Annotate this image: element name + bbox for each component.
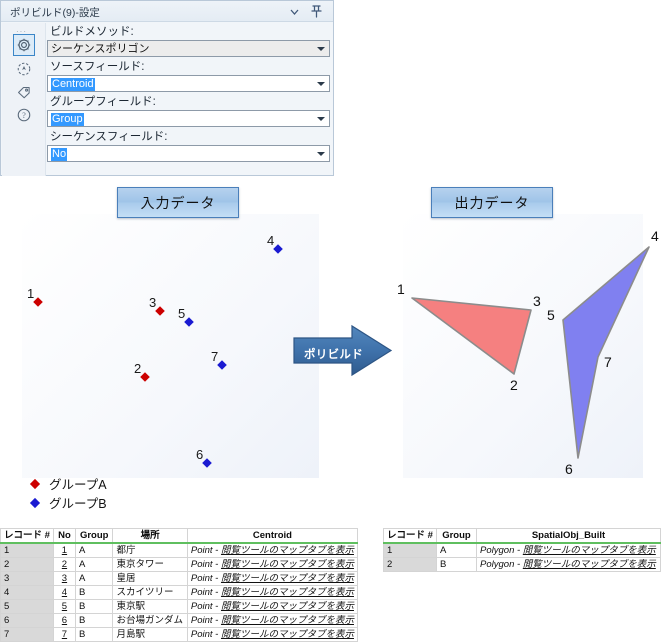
th-centroid: Centroid bbox=[187, 529, 357, 544]
data-point-4 bbox=[273, 244, 283, 254]
field-source-field: ソースフィールド: Centroid bbox=[47, 60, 330, 92]
source-field-value: Centroid bbox=[51, 78, 95, 91]
chart-legend: グループA グループB bbox=[30, 474, 107, 512]
cell-no: 4 bbox=[53, 586, 75, 600]
polygon-vertex-label-7: 7 bbox=[604, 354, 612, 370]
legend-marker-red bbox=[30, 478, 40, 488]
th-record: レコード # bbox=[384, 529, 437, 544]
cell-record: 4 bbox=[1, 586, 54, 600]
chevron-down-icon[interactable] bbox=[287, 4, 302, 19]
polybuild-arrow-label: ポリビルド bbox=[304, 346, 363, 362]
legend-label-group-a: グループA bbox=[49, 474, 107, 493]
data-point-2 bbox=[140, 372, 150, 382]
field-build-method: ビルドメソッド: シーケンスポリゴン bbox=[47, 25, 330, 57]
table-row[interactable]: 2BPolygon - 閲覧ツールのマップタブを表示 bbox=[384, 558, 661, 572]
data-point-1 bbox=[33, 297, 43, 307]
data-point-label-2: 2 bbox=[134, 361, 141, 376]
field-label-source-field: ソースフィールド: bbox=[50, 60, 330, 74]
cell-centroid[interactable]: Point - 閲覧ツールのマップタブを表示 bbox=[187, 628, 357, 642]
cell-place: スカイツリー bbox=[113, 586, 187, 600]
table-row[interactable]: 55B東京駅Point - 閲覧ツールのマップタブを表示 bbox=[1, 600, 358, 614]
cell-record: 2 bbox=[384, 558, 437, 572]
cell-centroid[interactable]: Point - 閲覧ツールのマップタブを表示 bbox=[187, 558, 357, 572]
cell-centroid[interactable]: Point - 閲覧ツールのマップタブを表示 bbox=[187, 614, 357, 628]
legend-item-group-a: グループA bbox=[30, 474, 107, 493]
polygon-vertex-label-2: 2 bbox=[510, 377, 518, 393]
cell-group: B bbox=[75, 586, 113, 600]
cell-place: お台場ガンダム bbox=[113, 614, 187, 628]
cell-group: A bbox=[75, 572, 113, 586]
cell-group: B bbox=[75, 600, 113, 614]
output-polygon-group-A bbox=[412, 298, 531, 374]
chevron-down-icon bbox=[317, 117, 325, 121]
build-method-value: シーケンスポリゴン bbox=[51, 43, 149, 56]
table-body: 1APolygon - 閲覧ツールのマップタブを表示2BPolygon - 閲覧… bbox=[384, 543, 661, 572]
cell-no: 3 bbox=[53, 572, 75, 586]
polygon-vertex-label-3: 3 bbox=[533, 293, 541, 309]
cell-spatialobj[interactable]: Polygon - 閲覧ツールのマップタブを表示 bbox=[477, 558, 661, 572]
panel-icon-rail: ··· bbox=[2, 23, 46, 176]
chevron-down-icon bbox=[317, 82, 325, 86]
data-point-label-1: 1 bbox=[27, 286, 34, 301]
data-point-3 bbox=[155, 306, 165, 316]
cell-record: 1 bbox=[1, 543, 54, 558]
data-point-label-5: 5 bbox=[178, 306, 185, 321]
field-label-sequence-field: シーケンスフィールド: bbox=[50, 130, 330, 144]
table-head: レコード # No Group 場所 Centroid bbox=[1, 529, 358, 544]
polygon-vertex-label-1: 1 bbox=[397, 281, 405, 297]
field-label-build-method: ビルドメソッド: bbox=[50, 25, 330, 39]
polygon-vertex-label-4: 4 bbox=[651, 228, 659, 244]
legend-label-group-b: グループB bbox=[49, 493, 107, 512]
th-spatial: SpatialObj_Built bbox=[477, 529, 661, 544]
output-polygon-group-B bbox=[563, 247, 649, 458]
field-group-field: グループフィールド: Group bbox=[47, 95, 330, 127]
output-records-table: レコード # Group SpatialObj_Built 1APolygon … bbox=[383, 528, 661, 572]
legend-marker-blue bbox=[30, 497, 40, 507]
panel-titlebar: ポリビルド(9)-設定 bbox=[1, 1, 333, 22]
cell-record: 1 bbox=[384, 543, 437, 558]
cell-record: 3 bbox=[1, 572, 54, 586]
cell-centroid[interactable]: Point - 閲覧ツールのマップタブを表示 bbox=[187, 586, 357, 600]
cell-place: 皇居 bbox=[113, 572, 187, 586]
table-row[interactable]: 33A皇居Point - 閲覧ツールのマップタブを表示 bbox=[1, 572, 358, 586]
cell-group: B bbox=[75, 628, 113, 642]
cell-group: B bbox=[75, 614, 113, 628]
polygon-vertex-label-6: 6 bbox=[565, 461, 573, 477]
cell-place: 月島駅 bbox=[113, 628, 187, 642]
table-header-row: レコード # No Group 場所 Centroid bbox=[1, 529, 358, 544]
group-field-value: Group bbox=[51, 113, 84, 126]
table-row[interactable]: 77B月島駅Point - 閲覧ツールのマップタブを表示 bbox=[1, 628, 358, 642]
cell-group: A bbox=[436, 543, 476, 558]
gear-icon[interactable] bbox=[13, 34, 35, 56]
cell-spatialobj[interactable]: Polygon - 閲覧ツールのマップタブを表示 bbox=[477, 543, 661, 558]
tag-icon[interactable] bbox=[13, 81, 35, 103]
cell-group: A bbox=[75, 558, 113, 572]
chevron-down-icon bbox=[317, 47, 325, 51]
group-field-select[interactable]: Group bbox=[47, 110, 330, 127]
th-no: No bbox=[53, 529, 75, 544]
cell-record: 2 bbox=[1, 558, 54, 572]
data-point-7 bbox=[217, 360, 227, 370]
cell-centroid[interactable]: Point - 閲覧ツールのマップタブを表示 bbox=[187, 543, 357, 558]
cell-place: 東京タワー bbox=[113, 558, 187, 572]
table-row[interactable]: 44BスカイツリーPoint - 閲覧ツールのマップタブを表示 bbox=[1, 586, 358, 600]
table-body: 11A都庁Point - 閲覧ツールのマップタブを表示22A東京タワーPoint… bbox=[1, 543, 358, 642]
sequence-field-value: No bbox=[51, 148, 67, 161]
input-records-table: レコード # No Group 場所 Centroid 11A都庁Point -… bbox=[0, 528, 358, 642]
cell-group: A bbox=[75, 543, 113, 558]
data-point-label-3: 3 bbox=[149, 295, 156, 310]
table-row[interactable]: 1APolygon - 閲覧ツールのマップタブを表示 bbox=[384, 543, 661, 558]
panel-title: ポリビルド(9)-設定 bbox=[10, 5, 100, 20]
cell-group: B bbox=[436, 558, 476, 572]
cell-no: 2 bbox=[53, 558, 75, 572]
legend-item-group-b: グループB bbox=[30, 493, 107, 512]
data-point-6 bbox=[202, 458, 212, 468]
data-point-label-7: 7 bbox=[211, 349, 218, 364]
cell-no: 6 bbox=[53, 614, 75, 628]
polybuild-arrow: ポリビルド bbox=[292, 324, 394, 386]
source-field-select[interactable]: Centroid bbox=[47, 75, 330, 92]
polybuild-settings-panel: ポリビルド(9)-設定 ··· bbox=[0, 0, 334, 176]
build-method-select[interactable]: シーケンスポリゴン bbox=[47, 40, 330, 57]
diagram-area: 入力データ 出力データ 1325476 1234567 ポリビルド グループA bbox=[0, 176, 661, 524]
cell-no: 7 bbox=[53, 628, 75, 642]
input-points: 1234567 bbox=[27, 233, 283, 468]
cell-centroid[interactable]: Point - 閲覧ツールのマップタブを表示 bbox=[187, 600, 357, 614]
data-point-5 bbox=[184, 317, 194, 327]
cell-centroid[interactable]: Point - 閲覧ツールのマップタブを表示 bbox=[187, 572, 357, 586]
settings-form: ビルドメソッド: シーケンスポリゴン ソースフィールド: Centroid グル… bbox=[47, 25, 330, 165]
cell-no: 5 bbox=[53, 600, 75, 614]
th-group: Group bbox=[436, 529, 476, 544]
chevron-down-icon bbox=[317, 152, 325, 156]
field-sequence-field: シーケンスフィールド: No bbox=[47, 130, 330, 162]
data-point-label-4: 4 bbox=[267, 233, 274, 248]
cell-place: 都庁 bbox=[113, 543, 187, 558]
th-group: Group bbox=[75, 529, 113, 544]
polygon-vertex-label-5: 5 bbox=[547, 307, 555, 323]
cell-no: 1 bbox=[53, 543, 75, 558]
cell-record: 7 bbox=[1, 628, 54, 642]
table-row[interactable]: 66Bお台場ガンダムPoint - 閲覧ツールのマップタブを表示 bbox=[1, 614, 358, 628]
target-icon[interactable] bbox=[13, 58, 35, 80]
data-point-label-6: 6 bbox=[196, 447, 203, 462]
cell-record: 5 bbox=[1, 600, 54, 614]
field-label-group-field: グループフィールド: bbox=[50, 95, 330, 109]
table-header-row: レコード # Group SpatialObj_Built bbox=[384, 529, 661, 544]
cell-record: 6 bbox=[1, 614, 54, 628]
sequence-field-select[interactable]: No bbox=[47, 145, 330, 162]
th-place: 場所 bbox=[113, 529, 187, 544]
table-row[interactable]: 11A都庁Point - 閲覧ツールのマップタブを表示 bbox=[1, 543, 358, 558]
svg-text:?: ? bbox=[22, 111, 26, 120]
th-record: レコード # bbox=[1, 529, 54, 544]
help-icon[interactable]: ? bbox=[13, 104, 35, 126]
output-polygons: 1325476 bbox=[397, 228, 659, 477]
pin-icon[interactable] bbox=[309, 4, 324, 19]
table-head: レコード # Group SpatialObj_Built bbox=[384, 529, 661, 544]
table-row[interactable]: 22A東京タワーPoint - 閲覧ツールのマップタブを表示 bbox=[1, 558, 358, 572]
cell-place: 東京駅 bbox=[113, 600, 187, 614]
